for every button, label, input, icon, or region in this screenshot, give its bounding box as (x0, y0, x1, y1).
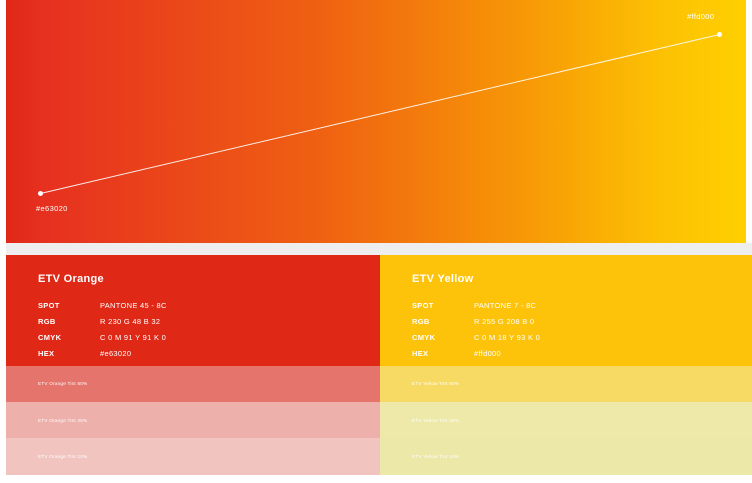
tint-row-orange-25: ETV Orange Tint 25% (6, 402, 380, 438)
spec-table-etv-yellow: SPOT PANTONE 7 - 8C RGB R 255 G 208 B 0 … (412, 301, 540, 365)
spec-row: RGB R 230 G 48 B 32 (38, 317, 167, 333)
swatch-panels: ETV Orange SPOT PANTONE 45 - 8C RGB R 23… (6, 255, 752, 475)
gradient-start-dot (38, 191, 43, 196)
spec-row: CMYK C 0 M 91 Y 91 K 0 (38, 333, 167, 349)
swatch-panel-etv-yellow: ETV Yellow SPOT PANTONE 7 - 8C RGB R 255… (380, 255, 752, 475)
tint-label-yellow-10: ETV Yellow Tint 10% (380, 454, 459, 459)
tint-row-yellow-10: ETV Yellow Tint 10% (380, 438, 752, 475)
gradient-end-hex-label: #ffd000 (687, 12, 714, 21)
spec-table-etv-orange: SPOT PANTONE 45 - 8C RGB R 230 G 48 B 32… (38, 301, 167, 365)
spec-value-hex: #ffd000 (474, 349, 540, 365)
spec-key-spot: SPOT (412, 301, 474, 317)
brand-color-sheet: #e63020 #ffd000 ETV Orange SPOT PANTONE … (0, 0, 752, 483)
spec-key-rgb: RGB (412, 317, 474, 333)
tint-label-orange-10: ETV Orange Tint 10% (6, 454, 87, 459)
spec-key-cmyk: CMYK (38, 333, 100, 349)
tint-row-yellow-25: ETV Yellow Tint 25% (380, 402, 752, 438)
spec-key-hex: HEX (38, 349, 100, 365)
spec-row: HEX #ffd000 (412, 349, 540, 365)
swatch-panel-etv-orange: ETV Orange SPOT PANTONE 45 - 8C RGB R 23… (6, 255, 380, 475)
separator-band (0, 243, 752, 255)
spec-key-spot: SPOT (38, 301, 100, 317)
left-margin (0, 0, 6, 483)
gradient-banner: #e63020 #ffd000 (6, 0, 746, 243)
gradient-start-hex-label: #e63020 (36, 204, 68, 213)
gradient-connector-line (6, 0, 746, 243)
swatch-header-etv-orange: ETV Orange SPOT PANTONE 45 - 8C RGB R 23… (6, 255, 380, 366)
tint-label-orange-50: ETV Orange Tint 50% (6, 381, 87, 386)
spec-row: SPOT PANTONE 45 - 8C (38, 301, 167, 317)
spec-value-hex: #e63020 (100, 349, 167, 365)
spec-key-rgb: RGB (38, 317, 100, 333)
spec-row: RGB R 255 G 208 B 0 (412, 317, 540, 333)
spec-value-spot: PANTONE 45 - 8C (100, 301, 167, 317)
bottom-margin (0, 475, 752, 483)
spec-key-cmyk: CMYK (412, 333, 474, 349)
tint-row-orange-50: ETV Orange Tint 50% (6, 366, 380, 402)
spec-value-cmyk: C 0 M 91 Y 91 K 0 (100, 333, 167, 349)
tint-label-yellow-25: ETV Yellow Tint 25% (380, 418, 459, 423)
tint-label-yellow-50: ETV Yellow Tint 50% (380, 381, 459, 386)
swatch-header-etv-yellow: ETV Yellow SPOT PANTONE 7 - 8C RGB R 255… (380, 255, 752, 366)
spec-row: CMYK C 0 M 18 Y 93 K 0 (412, 333, 540, 349)
spec-row: HEX #e63020 (38, 349, 167, 365)
spec-row: SPOT PANTONE 7 - 8C (412, 301, 540, 317)
spec-value-rgb: R 255 G 208 B 0 (474, 317, 540, 333)
right-margin (746, 0, 752, 243)
tint-label-orange-25: ETV Orange Tint 25% (6, 418, 87, 423)
tint-row-yellow-50: ETV Yellow Tint 50% (380, 366, 752, 402)
spec-value-spot: PANTONE 7 - 8C (474, 301, 540, 317)
spec-key-hex: HEX (412, 349, 474, 365)
swatch-title-etv-yellow: ETV Yellow (412, 273, 752, 285)
swatch-title-etv-orange: ETV Orange (38, 273, 380, 285)
gradient-end-dot (717, 32, 722, 37)
spec-value-rgb: R 230 G 48 B 32 (100, 317, 167, 333)
spec-value-cmyk: C 0 M 18 Y 93 K 0 (474, 333, 540, 349)
tint-row-orange-10: ETV Orange Tint 10% (6, 438, 380, 475)
